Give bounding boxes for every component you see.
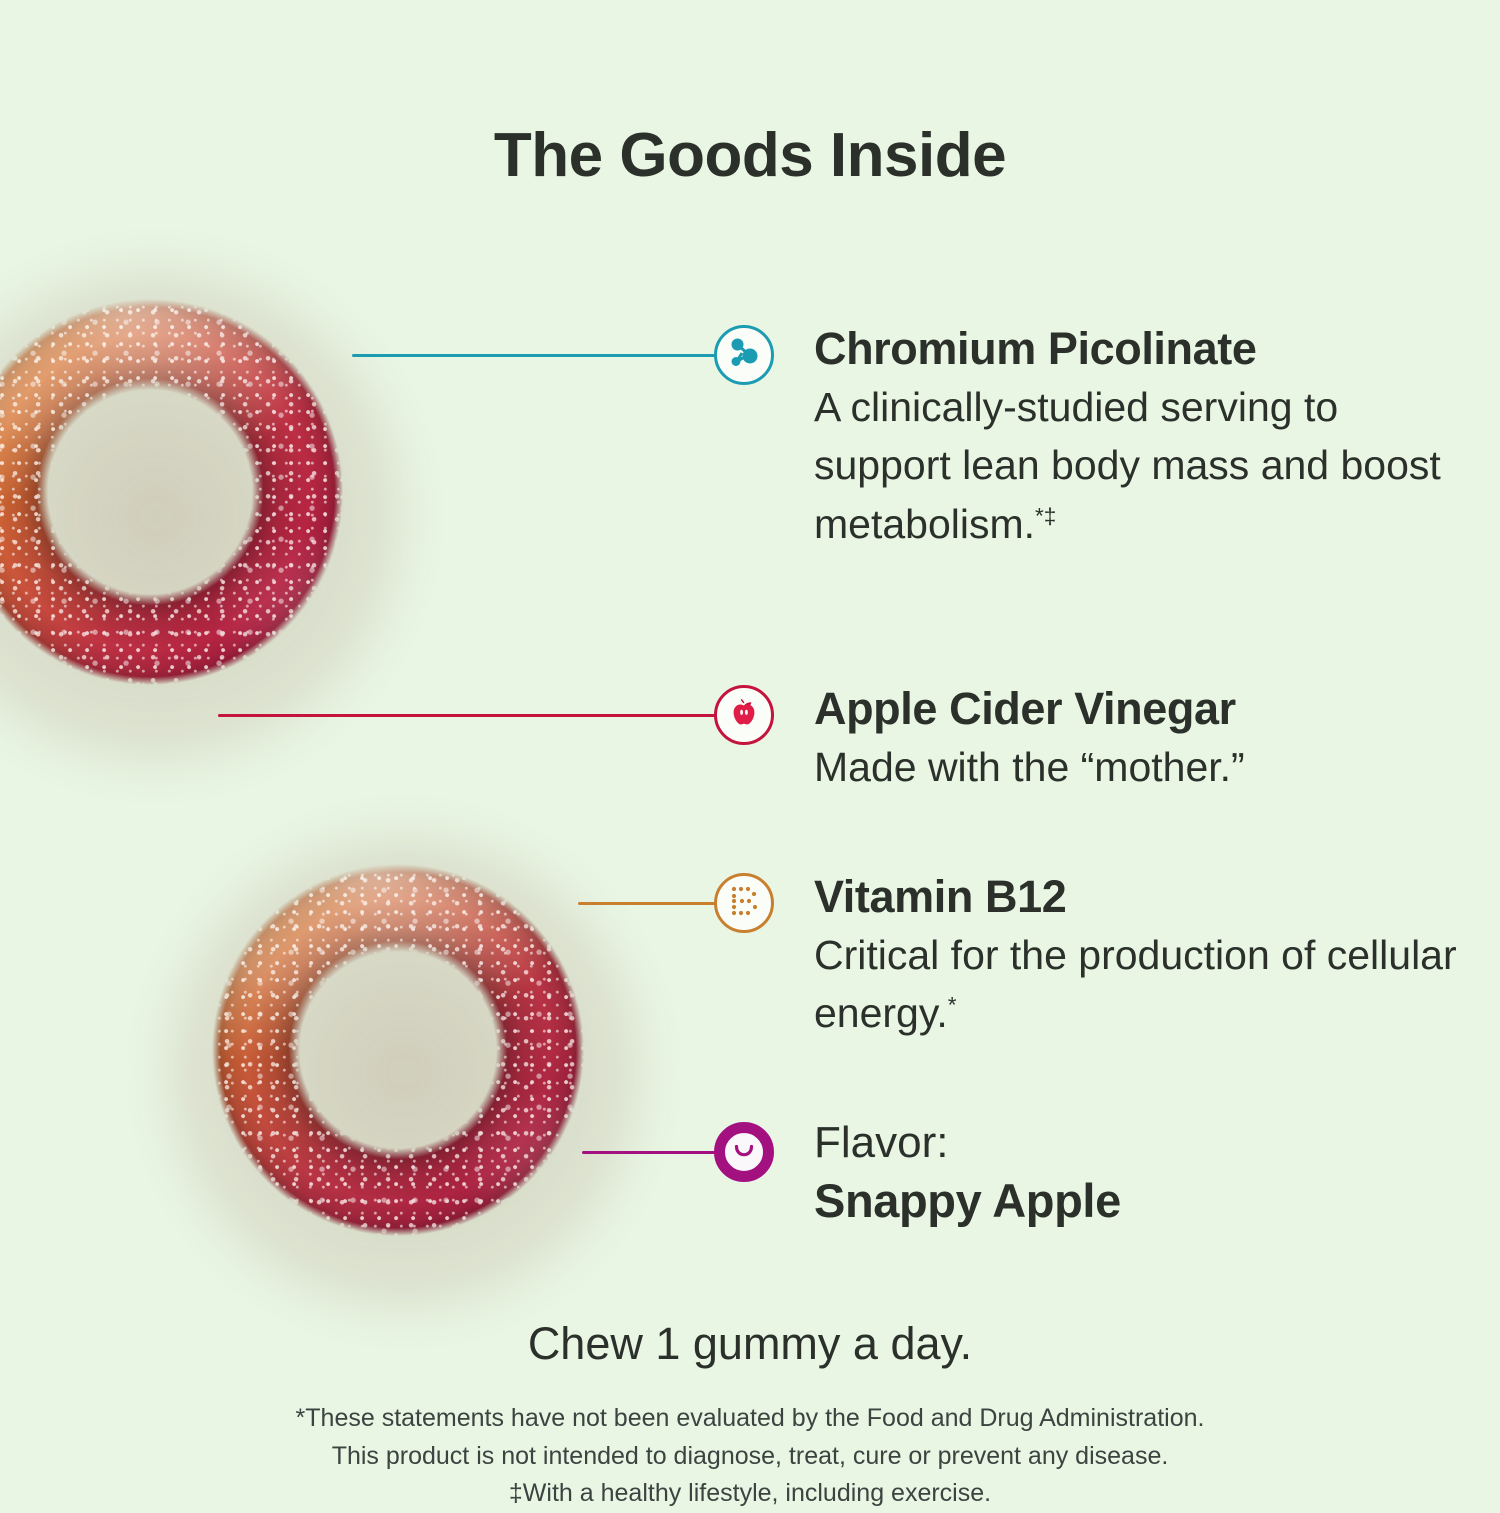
ingredient-name: Chromium Picolinate bbox=[814, 325, 1454, 372]
flavor-block: Flavor: Snappy Apple bbox=[814, 1120, 1414, 1226]
molecule-icon-badge bbox=[714, 325, 774, 385]
gummy-highlight bbox=[0, 220, 422, 764]
directions-text: Chew 1 gummy a day. bbox=[0, 1318, 1500, 1370]
ingredient-name: Apple Cider Vinegar bbox=[814, 685, 1474, 732]
gummy-shading bbox=[136, 788, 660, 1312]
disclaimer-line-2: This product is not intended to diagnose… bbox=[0, 1438, 1500, 1476]
gummy-highlight bbox=[136, 788, 660, 1312]
disclaimer-line-1: *These statements have not been evaluate… bbox=[0, 1400, 1500, 1438]
dotted-b-icon-badge bbox=[714, 873, 774, 933]
ingredient-description: A clinically-studied serving to support … bbox=[814, 378, 1454, 553]
ingredient-chromium-picolinate: Chromium Picolinate A clinically-studied… bbox=[814, 325, 1454, 553]
ingredient-apple-cider-vinegar: Apple Cider Vinegar Made with the “mothe… bbox=[814, 685, 1474, 796]
callout-line-flavor bbox=[582, 1151, 718, 1154]
ingredient-description-text: Critical for the production of cellular … bbox=[814, 932, 1457, 1036]
product-ingredients-infographic: The Goods Inside bbox=[0, 0, 1500, 1500]
footnote-marker: * bbox=[948, 993, 957, 1018]
apple-icon bbox=[726, 695, 762, 736]
gummy-ring-bottom bbox=[136, 788, 660, 1312]
flavor-value: Snappy Apple bbox=[814, 1175, 1414, 1227]
callout-line-fade bbox=[352, 354, 404, 357]
gummy-shading bbox=[0, 220, 422, 764]
footnote-marker: *‡ bbox=[1035, 503, 1056, 528]
disclaimer: *These statements have not been evaluate… bbox=[0, 1400, 1500, 1513]
gummy-gradient bbox=[136, 788, 660, 1312]
gummy-shadow bbox=[0, 246, 426, 786]
dotted-b-icon bbox=[727, 884, 761, 923]
page-title: The Goods Inside bbox=[0, 120, 1500, 191]
gummy-sugar-texture bbox=[0, 220, 422, 764]
gummy-ring-top bbox=[0, 220, 422, 764]
disclaimer-line-3: ‡With a healthy lifestyle, including exe… bbox=[0, 1475, 1500, 1513]
apple-icon-badge bbox=[714, 685, 774, 745]
callout-line-apple-cider-vinegar bbox=[218, 714, 718, 717]
molecule-icon bbox=[724, 333, 764, 378]
ingredient-name: Vitamin B12 bbox=[814, 873, 1494, 920]
callout-line-fade bbox=[578, 902, 608, 905]
apple-cider-vinegar-gummy-ring-bottom bbox=[136, 788, 660, 1312]
callout-line-fade bbox=[582, 1151, 612, 1154]
taste-smile-icon bbox=[729, 1135, 759, 1170]
ingredient-description-text: Made with the “mother.” bbox=[814, 744, 1245, 790]
callout-line-vitamin-b12 bbox=[578, 902, 718, 905]
ingredient-description: Made with the “mother.” bbox=[814, 738, 1474, 796]
gummy-sugar-texture bbox=[136, 788, 660, 1312]
gummy-gradient bbox=[0, 220, 422, 764]
callout-line-chromium bbox=[352, 354, 717, 357]
flavor-label: Flavor: bbox=[814, 1120, 1414, 1167]
ingredient-description: Critical for the production of cellular … bbox=[814, 926, 1494, 1042]
callout-line-stroke bbox=[352, 354, 717, 357]
ingredient-description-text: A clinically-studied serving to support … bbox=[814, 384, 1441, 546]
ingredient-vitamin-b12: Vitamin B12 Critical for the production … bbox=[814, 873, 1494, 1043]
callout-line-stroke bbox=[218, 714, 718, 717]
callout-line-fade bbox=[218, 714, 270, 717]
apple-cider-vinegar-gummy-ring-top bbox=[0, 220, 422, 764]
gummy-shadow bbox=[144, 812, 664, 1332]
taste-smile-icon-badge bbox=[714, 1122, 774, 1182]
